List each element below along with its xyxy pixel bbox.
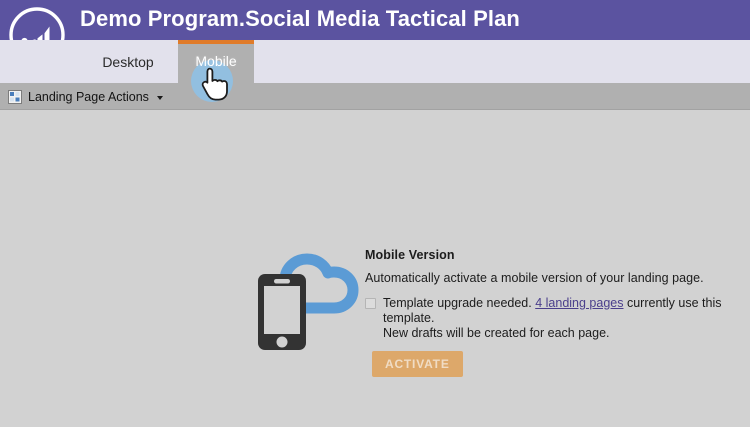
tab-bar: Desktop Mobile (0, 40, 750, 83)
page-title: Demo Program.Social Media Tactical Plan (80, 6, 520, 32)
chevron-down-icon (157, 96, 163, 100)
mobile-cloud-illustration (252, 234, 362, 352)
template-upgrade-text: Template upgrade needed. 4 landing pages… (383, 296, 725, 341)
upgrade-text-before: Template upgrade needed. (383, 296, 532, 310)
upgrade-text-line2: New drafts will be created for each page… (383, 326, 610, 340)
template-upgrade-checkbox[interactable] (365, 298, 376, 309)
landing-page-actions-label: Landing Page Actions (28, 90, 149, 104)
tab-desktop[interactable]: Desktop (78, 40, 178, 83)
activate-button[interactable]: ACTIVATE (372, 351, 463, 377)
landing-page-grid-icon (8, 90, 22, 104)
mobile-version-panel: Mobile Version Automatically activate a … (365, 248, 725, 377)
tab-mobile-label: Mobile (195, 53, 236, 69)
app-window: Demo Program.Social Media Tactical Plan … (0, 0, 750, 427)
tab-desktop-label: Desktop (102, 54, 153, 70)
landing-pages-link[interactable]: 4 landing pages (535, 296, 623, 310)
toolbar: Landing Page Actions (0, 83, 750, 110)
template-upgrade-row: Template upgrade needed. 4 landing pages… (365, 296, 725, 341)
panel-description: Automatically activate a mobile version … (365, 271, 725, 285)
content-area: Mobile Version Automatically activate a … (0, 110, 750, 427)
mobile-phone-icon (252, 234, 362, 352)
app-header: Demo Program.Social Media Tactical Plan (0, 0, 750, 40)
landing-page-actions-menu[interactable]: Landing Page Actions (8, 87, 163, 106)
panel-title: Mobile Version (365, 248, 725, 262)
